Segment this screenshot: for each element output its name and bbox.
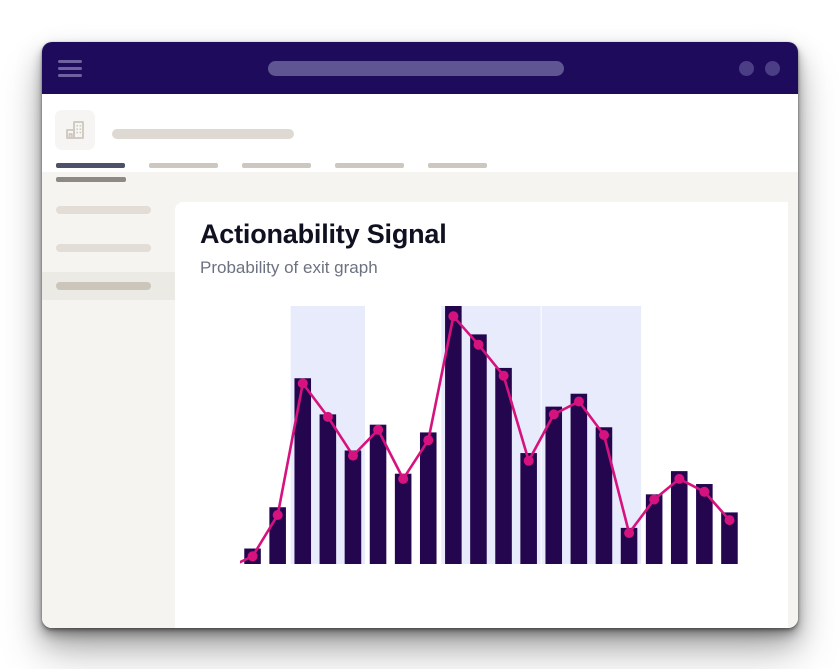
tab-4[interactable] <box>335 163 404 168</box>
org-title <box>112 129 294 139</box>
chart-point-16[interactable] <box>624 528 634 538</box>
chart-point-17[interactable] <box>649 495 659 505</box>
sidebar-item-label-2 <box>56 244 151 252</box>
tab-2[interactable] <box>149 163 218 168</box>
chart-point-4[interactable] <box>323 412 333 422</box>
chart-point-3[interactable] <box>298 378 308 388</box>
browser-title-bar <box>42 42 798 94</box>
window-dot-2[interactable] <box>765 61 780 76</box>
chart-point-8[interactable] <box>423 435 433 445</box>
chart-point-6[interactable] <box>373 425 383 435</box>
hamburger-line-1 <box>58 60 82 63</box>
tab-5[interactable] <box>428 163 487 168</box>
chart-point-14[interactable] <box>574 397 584 407</box>
tab-strip <box>56 163 511 168</box>
chart-bar-15[interactable] <box>596 427 613 564</box>
window-controls <box>739 61 780 76</box>
tab-label-2 <box>149 163 218 168</box>
building-icon <box>55 110 95 150</box>
chart-point-12[interactable] <box>524 456 534 466</box>
tab-label-4 <box>335 163 404 168</box>
tab-label-5 <box>428 163 487 168</box>
page-subtitle: Probability of exit graph <box>200 258 378 278</box>
browser-window: Actionability Signal Probability of exit… <box>42 42 798 628</box>
content-card: Actionability Signal Probability of exit… <box>175 202 788 628</box>
chart-point-7[interactable] <box>398 474 408 484</box>
chart-point-10[interactable] <box>474 340 484 350</box>
chart-bar-5[interactable] <box>345 450 362 564</box>
chart-bar-6[interactable] <box>370 425 387 564</box>
hamburger-icon[interactable] <box>58 60 82 77</box>
chart-point-2[interactable] <box>273 510 283 520</box>
chart-bar-8[interactable] <box>420 432 437 564</box>
tab-label-3 <box>242 163 311 168</box>
page-title: Actionability Signal <box>200 219 447 250</box>
tab-label-1 <box>56 163 125 168</box>
chart-point-5[interactable] <box>348 451 358 461</box>
sidebar-item-1[interactable] <box>42 196 175 224</box>
hamburger-line-3 <box>58 74 82 77</box>
chart-point-9[interactable] <box>448 311 458 321</box>
sidebar <box>42 172 175 628</box>
chart-bar-3[interactable] <box>294 378 311 564</box>
sidebar-item-3[interactable] <box>42 272 175 300</box>
address-bar[interactable] <box>268 61 564 76</box>
chart-point-19[interactable] <box>699 487 709 497</box>
chart-point-18[interactable] <box>674 474 684 484</box>
app-body: Actionability Signal Probability of exit… <box>42 94 798 628</box>
chart-point-11[interactable] <box>499 371 509 381</box>
chart-bar-17[interactable] <box>646 494 663 564</box>
chart-point-13[interactable] <box>549 409 559 419</box>
tab-3[interactable] <box>242 163 311 168</box>
chart-bar-4[interactable] <box>320 414 337 564</box>
sidebar-item-label-3 <box>56 282 151 290</box>
actionability-signal-chart[interactable] <box>240 306 742 564</box>
chart-bar-10[interactable] <box>470 334 487 564</box>
sidebar-section-indicator <box>56 177 126 182</box>
chart-point-20[interactable] <box>725 515 735 525</box>
chart-bar-12[interactable] <box>520 453 537 564</box>
window-dot-1[interactable] <box>739 61 754 76</box>
hamburger-line-2 <box>58 67 82 70</box>
app-header <box>42 94 798 172</box>
chart-bar-7[interactable] <box>395 474 412 564</box>
chart-point-1[interactable] <box>248 551 258 561</box>
sidebar-item-2[interactable] <box>42 234 175 262</box>
sidebar-item-label-1 <box>56 206 151 214</box>
chart-bar-13[interactable] <box>545 407 562 564</box>
chart-point-15[interactable] <box>599 430 609 440</box>
chart-bar-14[interactable] <box>571 394 588 564</box>
tab-1[interactable] <box>56 163 125 168</box>
